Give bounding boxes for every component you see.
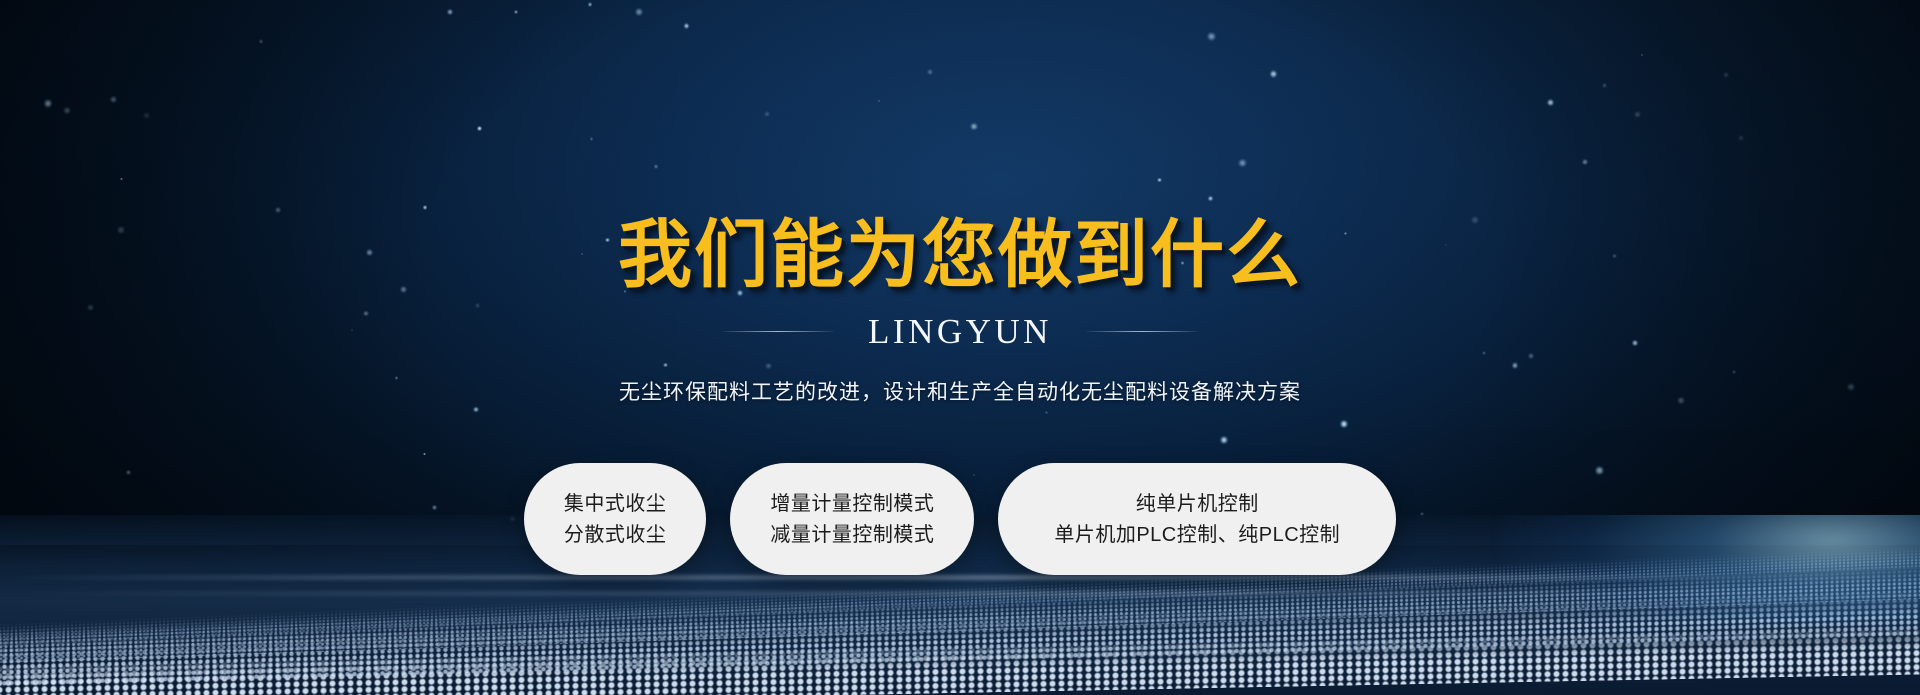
feature-card-line-2: 分散式收尘 bbox=[564, 525, 667, 545]
feature-card-line-2: 单片机加PLC控制、纯PLC控制 bbox=[1054, 525, 1340, 545]
feature-card-line-1: 纯单片机控制 bbox=[1136, 494, 1259, 514]
banner-subtitle: 无尘环保配料工艺的改进，设计和生产全自动化无尘配料设备解决方案 bbox=[619, 376, 1301, 406]
feature-card-line-2: 减量计量控制模式 bbox=[770, 525, 934, 545]
brand-row: LINGYUN bbox=[722, 314, 1198, 349]
banner-headline: 我们能为您做到什么 bbox=[618, 218, 1302, 292]
brand-rule-left bbox=[722, 331, 834, 332]
feature-card[interactable]: 纯单片机控制 单片机加PLC控制、纯PLC控制 bbox=[998, 463, 1396, 575]
feature-card-line-1: 集中式收尘 bbox=[564, 494, 667, 514]
feature-card[interactable]: 增量计量控制模式 减量计量控制模式 bbox=[730, 463, 974, 575]
feature-card[interactable]: 集中式收尘 分散式收尘 bbox=[524, 463, 707, 575]
brand-name: LINGYUN bbox=[868, 314, 1052, 349]
brand-rule-right bbox=[1086, 331, 1198, 332]
hero-banner: 我们能为您做到什么 LINGYUN 无尘环保配料工艺的改进，设计和生产全自动化无… bbox=[0, 0, 1920, 695]
feature-card-list: 集中式收尘 分散式收尘 增量计量控制模式 减量计量控制模式 纯单片机控制 单片机… bbox=[524, 463, 1396, 575]
banner-content: 我们能为您做到什么 LINGYUN 无尘环保配料工艺的改进，设计和生产全自动化无… bbox=[0, 0, 1920, 695]
feature-card-line-1: 增量计量控制模式 bbox=[770, 494, 934, 514]
